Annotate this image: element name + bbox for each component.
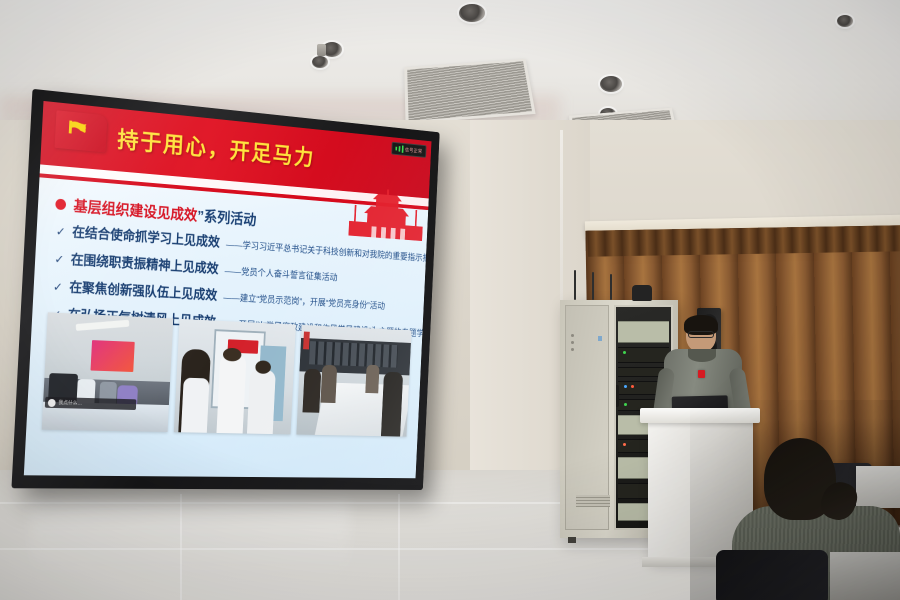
audience-bag: [716, 550, 828, 600]
rack-foot: [568, 537, 576, 543]
signal-bar-icon: [402, 146, 404, 153]
presenter-collar: [688, 349, 716, 362]
party-badge-icon: [698, 370, 705, 378]
wall-display[interactable]: 持于用心，开足马力: [11, 89, 439, 490]
bullet-main: 在围绕职责振精神上见成效: [70, 248, 219, 277]
rack-vent-grille: [576, 495, 610, 507]
party-flag-icon: [55, 110, 108, 152]
signal-bar-icon: [399, 146, 401, 152]
camera-icon: [632, 285, 652, 301]
watermark-text: 我点什么…: [58, 399, 82, 407]
bullet-tail: ——党员个人奋斗誓言征集活动: [224, 263, 337, 283]
bullet-main: 在聚焦创新强队伍上见成效: [69, 276, 218, 304]
sprinkler-icon: [317, 44, 326, 56]
antenna-icon: [592, 272, 594, 300]
front-desk: [830, 552, 900, 600]
podium-top-surface: [640, 408, 760, 423]
slide-photo: [297, 325, 412, 437]
tiananmen-gate-icon: [348, 184, 424, 241]
check-icon: ✓: [53, 280, 63, 294]
bullet-dot-icon: [55, 199, 66, 211]
osd-label: 信号正常: [405, 146, 423, 154]
antenna-icon: [574, 270, 576, 300]
downlight-icon: [837, 15, 853, 27]
display-panel: 持于用心，开足马力: [24, 101, 432, 478]
glasses-icon: [688, 331, 714, 338]
bullet-tail: ——建立“党员示范岗”，开展“党员亮身份”活动: [223, 290, 385, 312]
slide-photo: [174, 319, 297, 435]
presentation-slide: 持于用心，开足马力: [24, 101, 432, 478]
floor-reflection: [30, 500, 350, 580]
display-bezel: 持于用心，开足马力: [11, 89, 439, 490]
photo-watermark: 我点什么…: [45, 397, 137, 410]
ceiling-vent: [404, 59, 535, 124]
check-icon: ✓: [56, 224, 66, 239]
curtain-pleat-header: [588, 225, 900, 256]
rack-solid-door: [565, 305, 609, 530]
downlight-icon: [459, 4, 485, 22]
downlight-icon: [600, 76, 622, 92]
antenna-icon: [610, 274, 612, 300]
lead-suffix: ”系列活动: [197, 208, 257, 229]
slide-photo: 我点什么…: [42, 312, 173, 432]
downlight-icon: [312, 56, 328, 68]
check-icon: ✓: [54, 252, 64, 266]
conference-room-scene: 持于用心，开足马力: [0, 0, 900, 600]
watermark-badge-icon: [48, 398, 56, 406]
slide-photo-strip: 我点什么…: [42, 312, 412, 436]
signal-bar-icon: [395, 147, 397, 151]
